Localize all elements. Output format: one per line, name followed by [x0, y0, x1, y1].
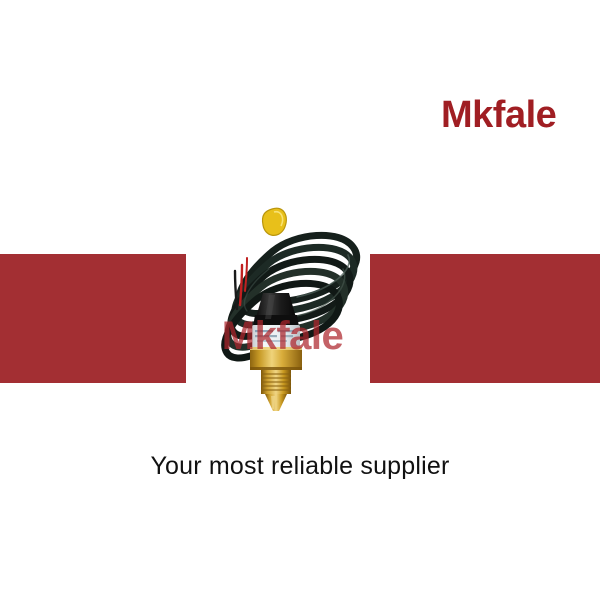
product-illustration-svg — [185, 125, 380, 415]
tagline-text: Your most reliable supplier — [0, 452, 600, 481]
sensor-brass-hex — [250, 347, 302, 370]
cable-tie-icon — [262, 208, 286, 235]
decorative-red-block-right — [370, 254, 600, 383]
product-banner: Mkfale — [0, 0, 600, 600]
brand-logo: Mkfale — [441, 96, 556, 134]
sensor-label — [252, 325, 300, 348]
decorative-red-block-left — [0, 254, 186, 383]
sensor-threaded-shank — [261, 370, 291, 411]
product-image — [185, 125, 380, 415]
